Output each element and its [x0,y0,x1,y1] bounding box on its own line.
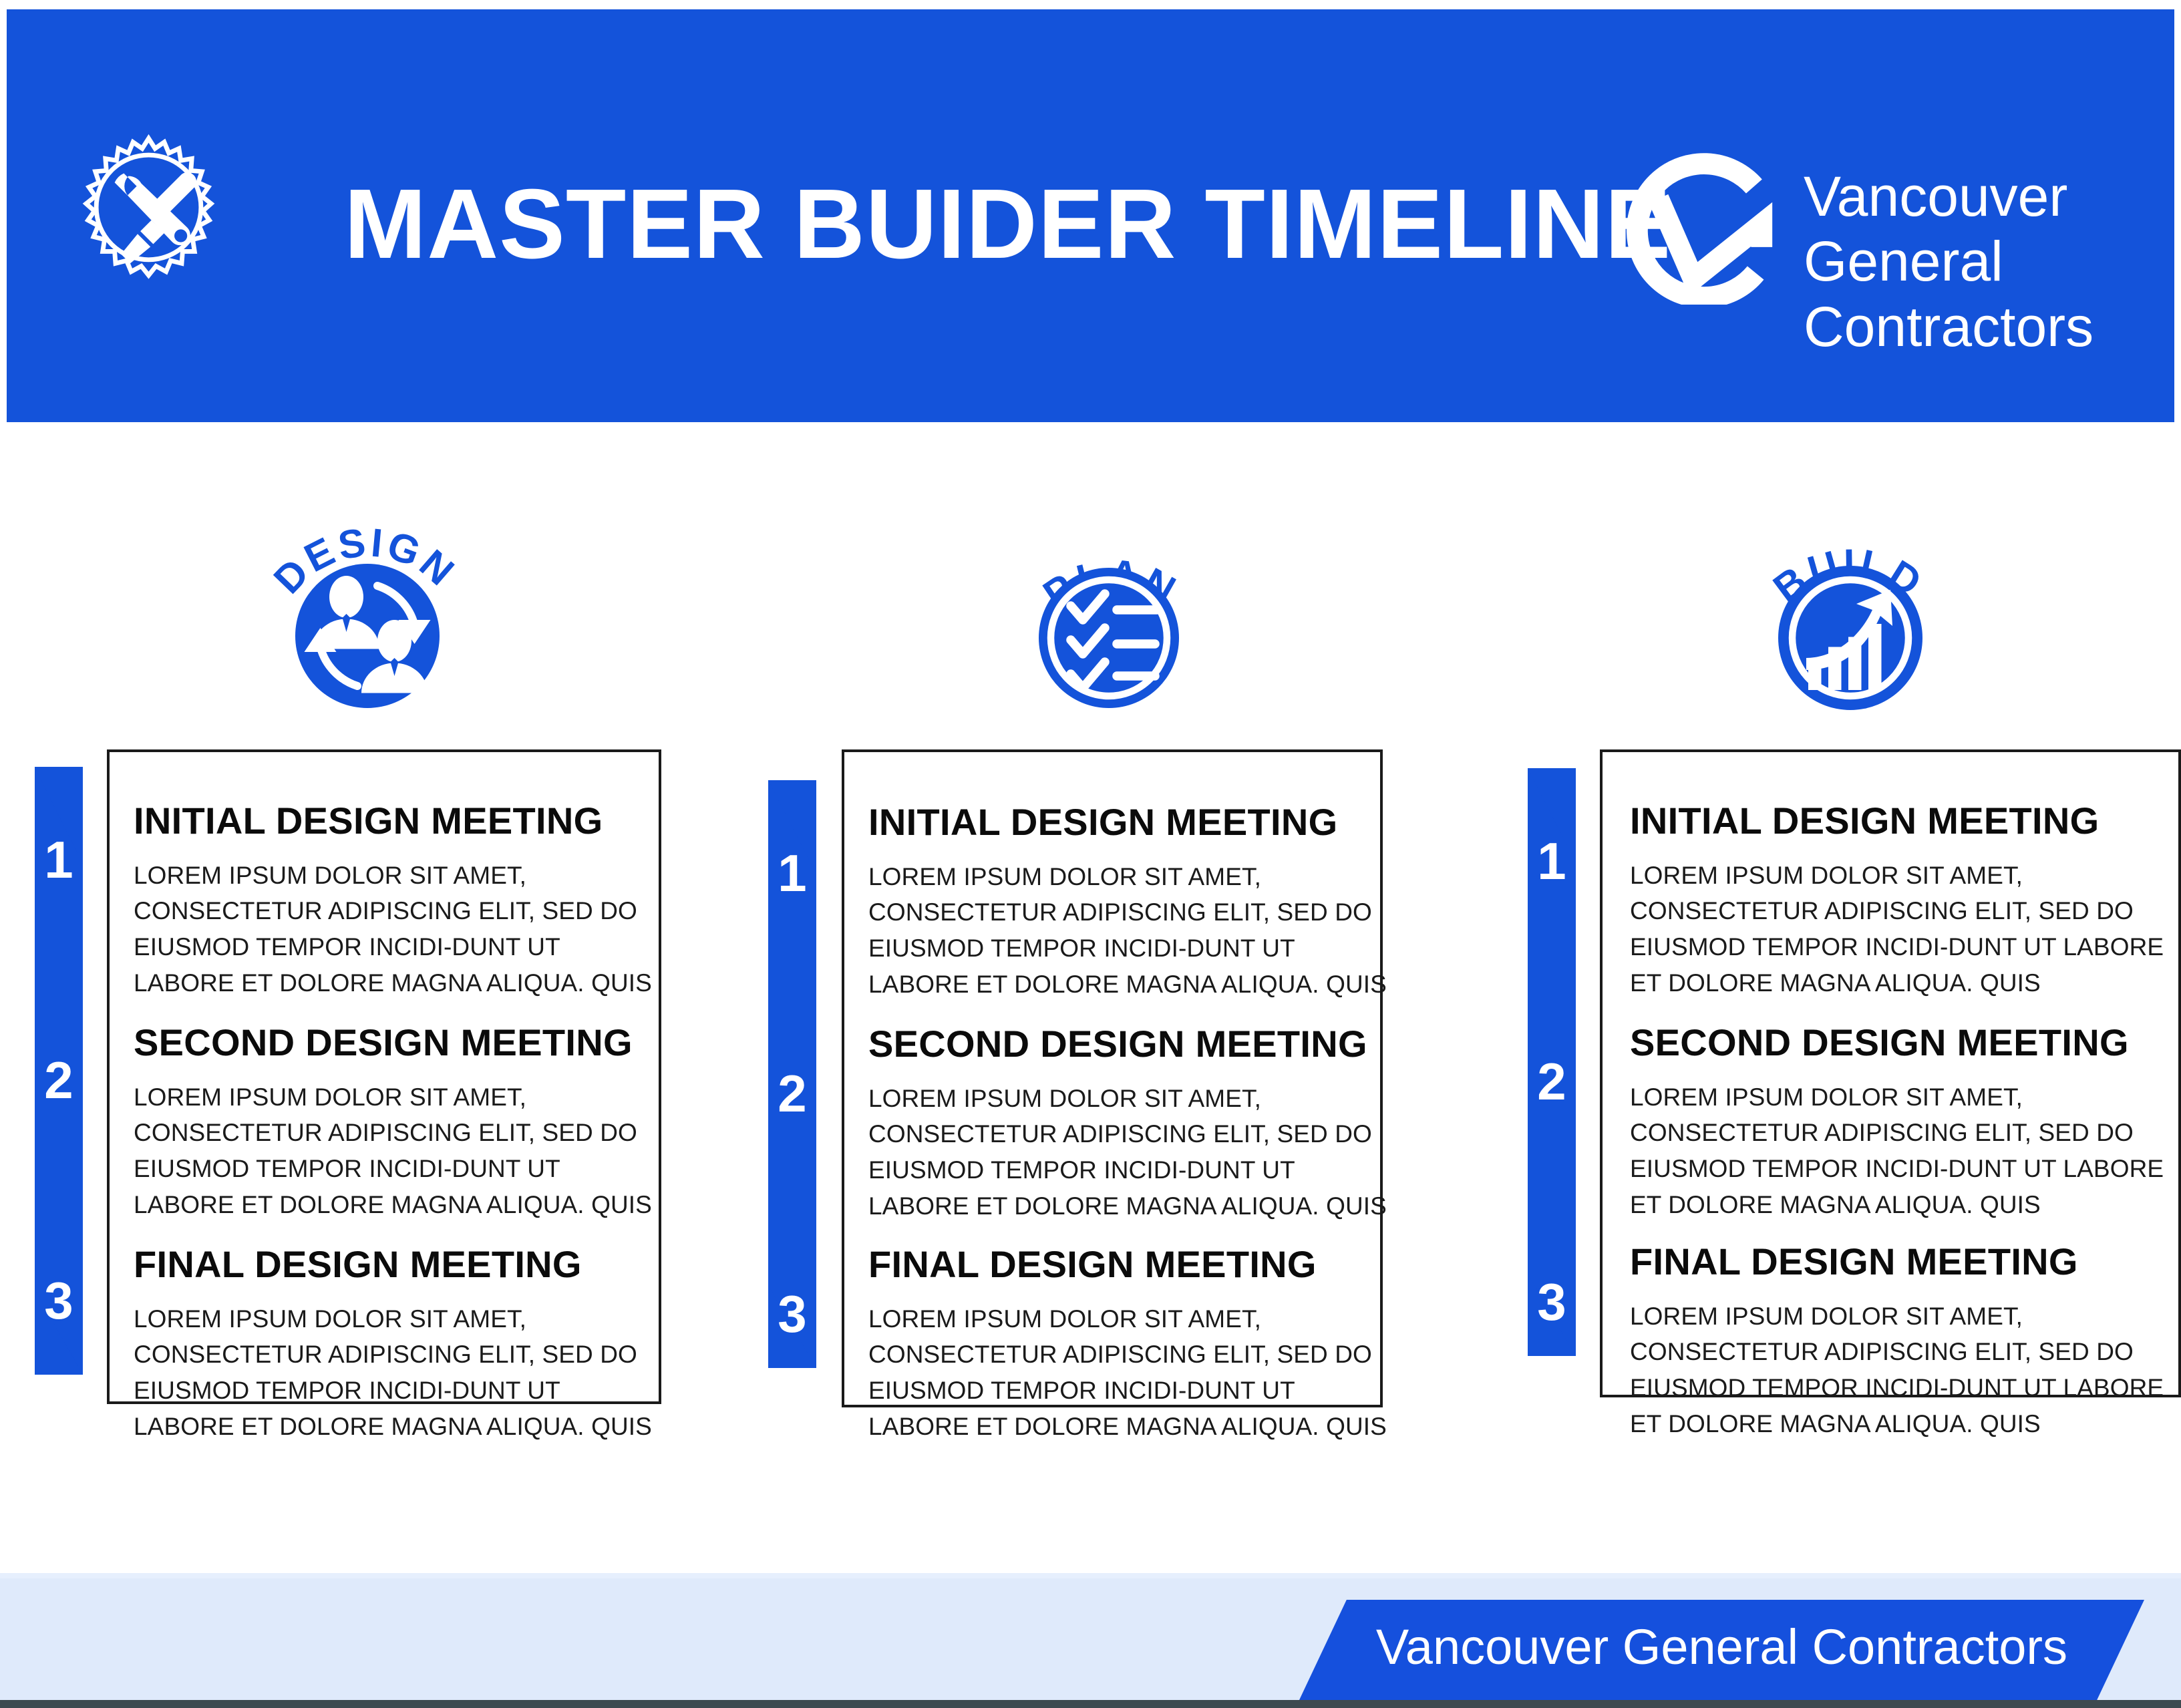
footer-bottom-bar [0,1700,2181,1708]
step-body: LOREM IPSUM DOLOR SIT AMET, CONSECTETUR … [1630,1299,2171,1442]
people-cycle-icon: DESIGN [257,518,478,718]
step-title: INITIAL DESIGN MEETING [134,800,661,842]
step-title: SECOND DESIGN MEETING [1630,1022,2171,1063]
step-body: LOREM IPSUM DOLOR SIT AMET, CONSECTETUR … [134,1301,661,1445]
step-block: SECOND DESIGN MEETING LOREM IPSUM DOLOR … [1630,1022,2171,1222]
step-number: 3 [768,1288,816,1340]
infographic-page: MASTER BUIDER TIMELINE Vancouver General… [0,0,2181,1708]
step-title: SECOND DESIGN MEETING [134,1022,661,1063]
step-block: INITIAL DESIGN MEETING LOREM IPSUM DOLOR… [1630,800,2171,1001]
step-body: LOREM IPSUM DOLOR SIT AMET, CONSECTETUR … [868,859,1389,1003]
step-number: 2 [35,1054,83,1106]
step-body: LOREM IPSUM DOLOR SIT AMET, CONSECTETUR … [134,1079,661,1223]
step-body: LOREM IPSUM DOLOR SIT AMET, CONSECTETUR … [134,858,661,1001]
step-number: 3 [1528,1276,1576,1328]
step-ribbon: 1 2 3 [768,780,816,1368]
step-block: FINAL DESIGN MEETING LOREM IPSUM DOLOR S… [134,1244,661,1444]
step-block: FINAL DESIGN MEETING LOREM IPSUM DOLOR S… [1630,1241,2171,1441]
step-number: 1 [1528,835,1576,887]
vgc-monogram-logo [1610,153,1777,307]
footer-banner-label: Vancouver General Contractors [1299,1622,2144,1672]
step-number: 3 [35,1274,83,1327]
step-number: 2 [768,1067,816,1120]
wrench-screwdriver-seal-icon [57,133,240,317]
step-title: FINAL DESIGN MEETING [134,1244,661,1285]
step-block: INITIAL DESIGN MEETING LOREM IPSUM DOLOR… [868,802,1389,1002]
header-bar: MASTER BUIDER TIMELINE Vancouver General… [7,9,2174,422]
step-block: FINAL DESIGN MEETING LOREM IPSUM DOLOR S… [868,1244,1389,1444]
step-ribbon: 1 2 3 [35,767,83,1375]
step-body: LOREM IPSUM DOLOR SIT AMET, CONSECTETUR … [868,1081,1389,1224]
step-block: INITIAL DESIGN MEETING LOREM IPSUM DOLOR… [134,800,661,1001]
step-title: FINAL DESIGN MEETING [868,1244,1389,1285]
brand-line-2: General [1804,229,2178,294]
footer-band-divider [0,1573,2181,1578]
step-body: LOREM IPSUM DOLOR SIT AMET, CONSECTETUR … [1630,858,2171,1001]
footer-banner: Vancouver General Contractors [1299,1600,2144,1700]
step-title: FINAL DESIGN MEETING [1630,1241,2171,1283]
step-title: SECOND DESIGN MEETING [868,1023,1389,1065]
step-block: SECOND DESIGN MEETING LOREM IPSUM DOLOR … [134,1022,661,1222]
page-title: MASTER BUIDER TIMELINE [344,175,1671,274]
brand-line-1: Vancouver [1804,164,2178,229]
step-number: 2 [1528,1055,1576,1107]
step-number: 1 [35,834,83,886]
step-title: INITIAL DESIGN MEETING [1630,800,2171,842]
step-body: LOREM IPSUM DOLOR SIT AMET, CONSECTETUR … [868,1301,1389,1445]
growth-chart-circle-icon: BUILD [1740,518,1961,718]
step-block: SECOND DESIGN MEETING LOREM IPSUM DOLOR … [868,1023,1389,1224]
brand-line-3: Contractors [1804,295,2178,359]
step-title: INITIAL DESIGN MEETING [868,802,1389,843]
step-ribbon: 1 2 3 [1528,768,1576,1356]
brand-name: Vancouver General Contractors [1804,164,2178,359]
checklist-circle-icon: PLAN [999,518,1219,718]
step-number: 1 [768,847,816,899]
step-body: LOREM IPSUM DOLOR SIT AMET, CONSECTETUR … [1630,1079,2171,1223]
